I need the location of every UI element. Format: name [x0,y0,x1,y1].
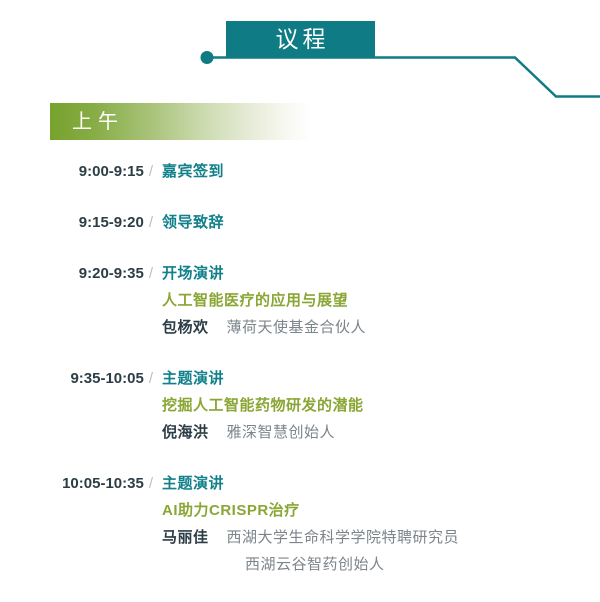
agenda-time: 9:20-9:35 [79,265,144,282]
agenda-row: 9:15-9:20/ 领导致辞 [0,209,600,236]
agenda-row: 10:05-10:35/ 主题演讲 AI助力CRISPR治疗 马丽佳西湖大学生命… [0,470,600,578]
agenda-topic-title: AI助力CRISPR治疗 [162,497,600,524]
agenda-separator: / [144,265,153,282]
agenda-session-label: 嘉宾签到 [162,158,600,185]
agenda-time-cell: 9:15-9:20/ [0,209,153,236]
agenda-row: 9:00-9:15/ 嘉宾签到 [0,158,600,185]
agenda-time-cell: 9:20-9:35/ [0,260,153,287]
agenda-row: 9:35-10:05/ 主题演讲 挖掘人工智能药物研发的潜能 倪海洪雅深智慧创始… [0,365,600,446]
agenda-time-cell: 9:00-9:15/ [0,158,153,185]
agenda-speaker-affiliation: 薄荷天使基金合伙人 [209,319,367,336]
agenda-time: 9:00-9:15 [79,163,144,180]
agenda-speaker-affiliation: 西湖大学生命科学学院特聘研究员 [209,529,460,546]
agenda-time-cell: 10:05-10:35/ [0,470,153,497]
agenda-session-label: 开场演讲 [162,260,600,287]
agenda-speaker-line: 马丽佳西湖大学生命科学学院特聘研究员 [162,524,600,551]
agenda-list: 9:00-9:15/ 嘉宾签到 9:15-9:20/ 领导致辞 9:20-9:3… [0,158,600,602]
header-banner: 议程 [0,0,600,110]
banner-title-box: 议程 [226,21,375,58]
agenda-time: 9:15-9:20 [79,214,144,231]
section-bar-morning: 上午 [50,103,312,140]
agenda-time-cell: 9:35-10:05/ [0,365,153,392]
agenda-speaker-affiliation-extra: 西湖云谷智药创始人 [162,551,600,578]
agenda-speaker-line: 倪海洪雅深智慧创始人 [162,419,600,446]
agenda-body: 主题演讲 挖掘人工智能药物研发的潜能 倪海洪雅深智慧创始人 [153,365,600,446]
agenda-session-label: 领导致辞 [162,209,600,236]
agenda-separator: / [144,475,153,492]
agenda-topic-title: 挖掘人工智能药物研发的潜能 [162,392,600,419]
agenda-body: 主题演讲 AI助力CRISPR治疗 马丽佳西湖大学生命科学学院特聘研究员 西湖云… [153,470,600,578]
agenda-separator: / [144,163,153,180]
agenda-session-label: 主题演讲 [162,470,600,497]
agenda-separator: / [144,370,153,387]
agenda-speaker-name: 马丽佳 [162,529,209,546]
agenda-time: 10:05-10:35 [62,475,144,492]
agenda-body: 开场演讲 人工智能医疗的应用与展望 包杨欢薄荷天使基金合伙人 [153,260,600,341]
agenda-session-label: 主题演讲 [162,365,600,392]
page-title: 议程 [272,28,330,51]
section-bar-label: 上午 [72,110,124,134]
agenda-body: 领导致辞 [153,209,600,236]
agenda-separator: / [144,214,153,231]
agenda-body: 嘉宾签到 [153,158,600,185]
agenda-speaker-line: 包杨欢薄荷天使基金合伙人 [162,314,600,341]
bullet-dot-icon [201,51,214,64]
agenda-row: 9:20-9:35/ 开场演讲 人工智能医疗的应用与展望 包杨欢薄荷天使基金合伙… [0,260,600,341]
agenda-speaker-affiliation: 雅深智慧创始人 [209,424,336,441]
agenda-speaker-name: 倪海洪 [162,424,209,441]
agenda-topic-title: 人工智能医疗的应用与展望 [162,287,600,314]
agenda-speaker-name: 包杨欢 [162,319,209,336]
agenda-time: 9:35-10:05 [70,370,143,387]
